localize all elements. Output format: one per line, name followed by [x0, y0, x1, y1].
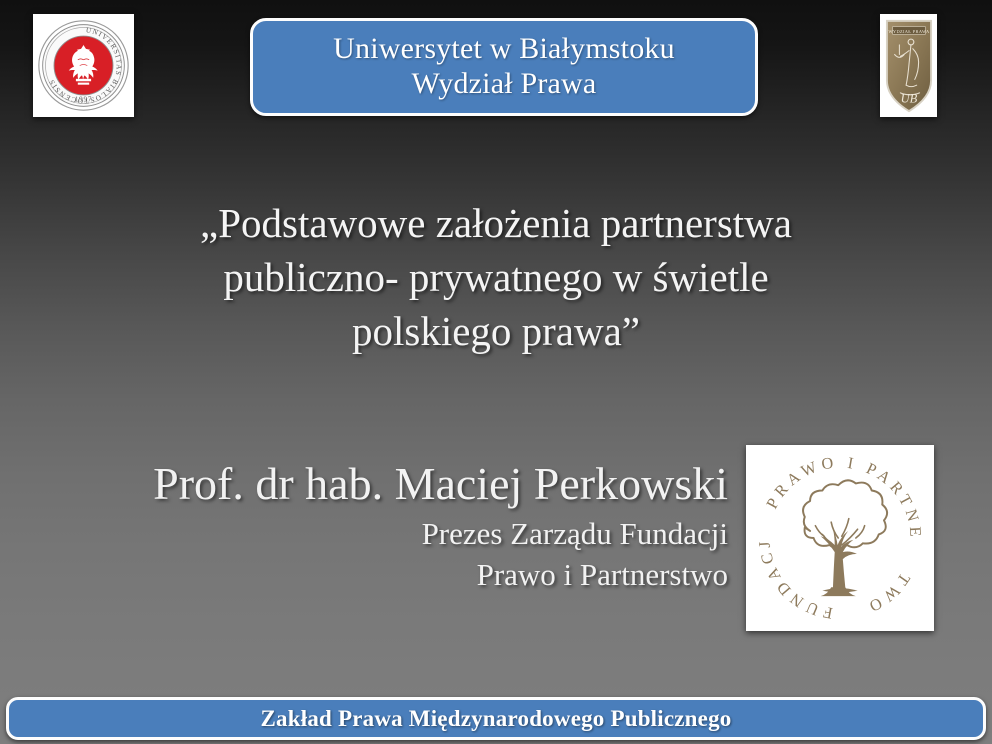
author-role-line-1: Prezes Zarządu Fundacji: [20, 514, 728, 555]
header-banner-line-2: Wydział Prawa: [412, 67, 597, 102]
foundation-tree-icon: PRAWO I PARTNERS TWO FUNDACJA: [752, 450, 928, 626]
presentation-slide: UNIVERSITAS BIALOSTOCENSIS 1997 Uniwersy…: [0, 0, 992, 744]
author-name: Prof. dr hab. Maciej Perkowski: [20, 458, 728, 510]
footer-banner-text: Zakład Prawa Międzynarodowego Publiczneg…: [261, 706, 732, 732]
university-seal-icon: UNIVERSITAS BIALOSTOCENSIS 1997: [36, 17, 131, 114]
faculty-of-law-logo: WYDZIAŁ PRAWA UB: [880, 14, 937, 117]
slide-title-line-3: polskiego prawa”: [56, 304, 936, 358]
header-banner: Uniwersytet w Białymstoku Wydział Prawa: [250, 18, 758, 116]
svg-text:TWO: TWO: [862, 570, 913, 617]
author-block: Prof. dr hab. Maciej Perkowski Prezes Za…: [20, 458, 728, 596]
faculty-of-law-shield-icon: WYDZIAŁ PRAWA UB: [884, 18, 934, 114]
author-role-line-2: Prawo i Partnerstwo: [20, 555, 728, 596]
footer-banner: Zakład Prawa Międzynarodowego Publiczneg…: [6, 697, 986, 740]
svg-text:UB: UB: [900, 91, 917, 105]
foundation-logo: PRAWO I PARTNERS TWO FUNDACJA: [746, 445, 934, 631]
svg-text:1997: 1997: [75, 96, 92, 104]
university-seal-logo: UNIVERSITAS BIALOSTOCENSIS 1997: [33, 14, 134, 117]
slide-title: „Podstawowe założenia partnerstwa public…: [56, 196, 936, 358]
svg-text:WYDZIAŁ PRAWA: WYDZIAŁ PRAWA: [888, 28, 930, 33]
slide-title-line-1: „Podstawowe założenia partnerstwa: [56, 196, 936, 250]
slide-title-line-2: publiczno- prywatnego w świetle: [56, 250, 936, 304]
svg-text:PRAWO I PARTNERS: PRAWO I PARTNERS: [752, 450, 925, 542]
header-banner-line-1: Uniwersytet w Białymstoku: [333, 32, 675, 67]
